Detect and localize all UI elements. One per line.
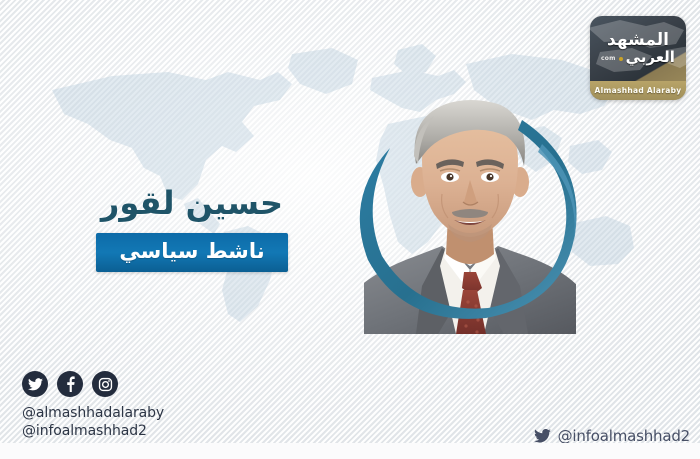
person-title-badge: ناشط سياسي [96, 233, 288, 272]
logo-arabic-text: المشهد com العربي [601, 32, 675, 65]
social-handles: @almashhadalaraby @infoalmashhad2 [22, 405, 164, 441]
facebook-icon[interactable] [57, 371, 83, 397]
handle-primary[interactable]: @almashhadalaraby [22, 405, 164, 423]
person-title: ناشط سياسي [106, 240, 278, 263]
logo-arabic-line2: العربي [626, 50, 675, 65]
social-icon-row [22, 371, 164, 397]
handle-secondary[interactable]: @infoalmashhad2 [22, 423, 164, 441]
logo-latin-band: Almashhad Alaraby [590, 81, 686, 100]
twitter-icon[interactable] [22, 371, 48, 397]
twitter-icon [534, 429, 551, 443]
logo-com-label: com [601, 56, 616, 65]
logo-dot-icon [619, 57, 623, 61]
social-footer: @almashhadalaraby @infoalmashhad2 [22, 371, 164, 441]
portrait-ring-decoration [346, 86, 594, 334]
portrait-container [346, 86, 594, 334]
logo-latin-label: Almashhad Alaraby [595, 86, 682, 95]
logo-arabic-line1: المشهد [601, 32, 675, 49]
graphic-canvas: المشهد com العربي Almashhad Alaraby [0, 0, 700, 459]
channel-logo[interactable]: المشهد com العربي Almashhad Alaraby [590, 16, 686, 100]
person-name: حسين لقور [96, 186, 288, 221]
identity-block: حسين لقور ناشط سياسي [96, 186, 288, 272]
bottom-white-strip [0, 443, 700, 459]
instagram-icon[interactable] [92, 371, 118, 397]
